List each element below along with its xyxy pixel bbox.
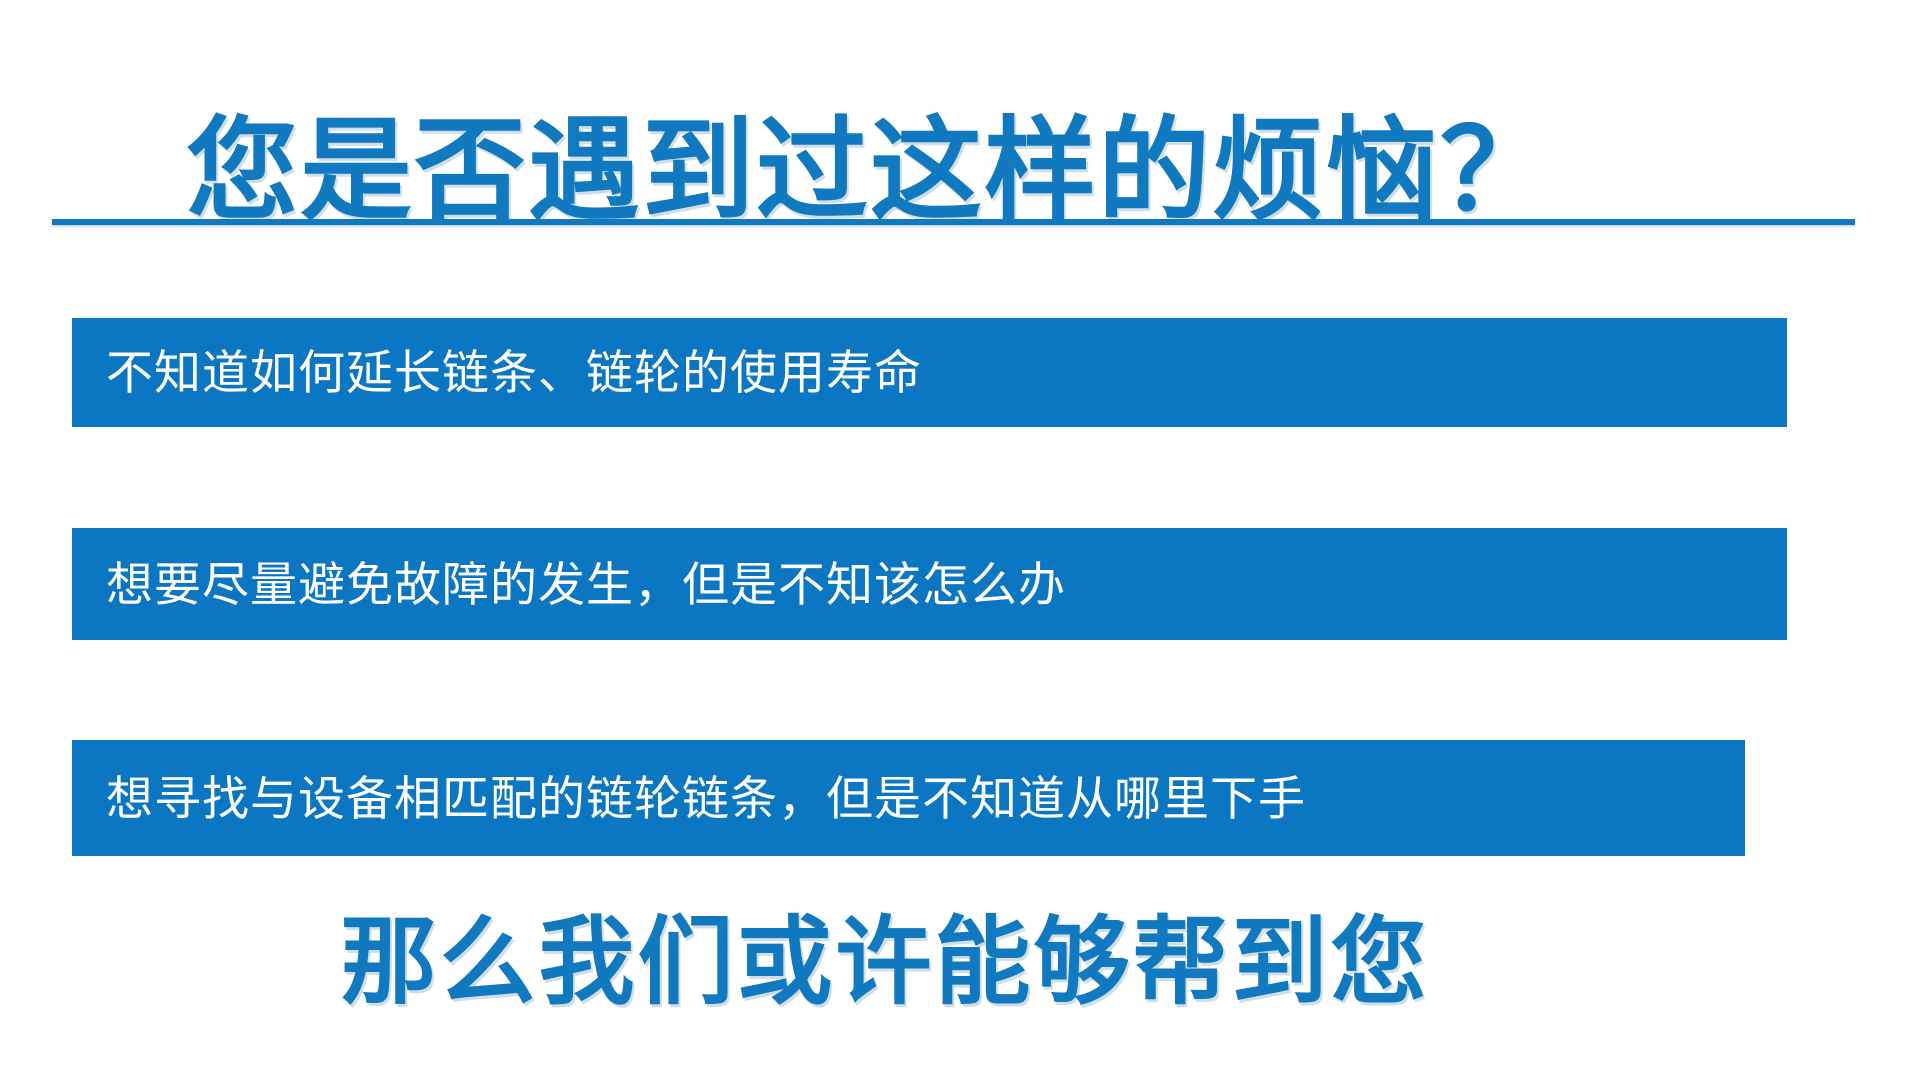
pain-point-text-3: 想寻找与设备相匹配的链轮链条，但是不知道从哪里下手 xyxy=(106,775,1306,822)
pain-point-bar-2: 想要尽量避免故障的发生，但是不知该怎么办 xyxy=(72,528,1787,640)
pain-point-text-2: 想要尽量避免故障的发生，但是不知该怎么办 xyxy=(106,561,1066,608)
pain-point-bar-3: 想寻找与设备相匹配的链轮链条，但是不知道从哪里下手 xyxy=(72,740,1745,856)
slide-canvas: 您是否遇到过这样的烦恼？ 不知道如何延长链条、链轮的使用寿命 想要尽量避免故障的… xyxy=(0,0,1920,1089)
pain-point-text-1: 不知道如何延长链条、链轮的使用寿命 xyxy=(106,349,922,396)
closing-statement: 那么我们或许能够帮到您 xyxy=(0,905,1920,1020)
title-divider-rule xyxy=(52,219,1855,225)
pain-point-bar-1: 不知道如何延长链条、链轮的使用寿命 xyxy=(72,318,1787,427)
